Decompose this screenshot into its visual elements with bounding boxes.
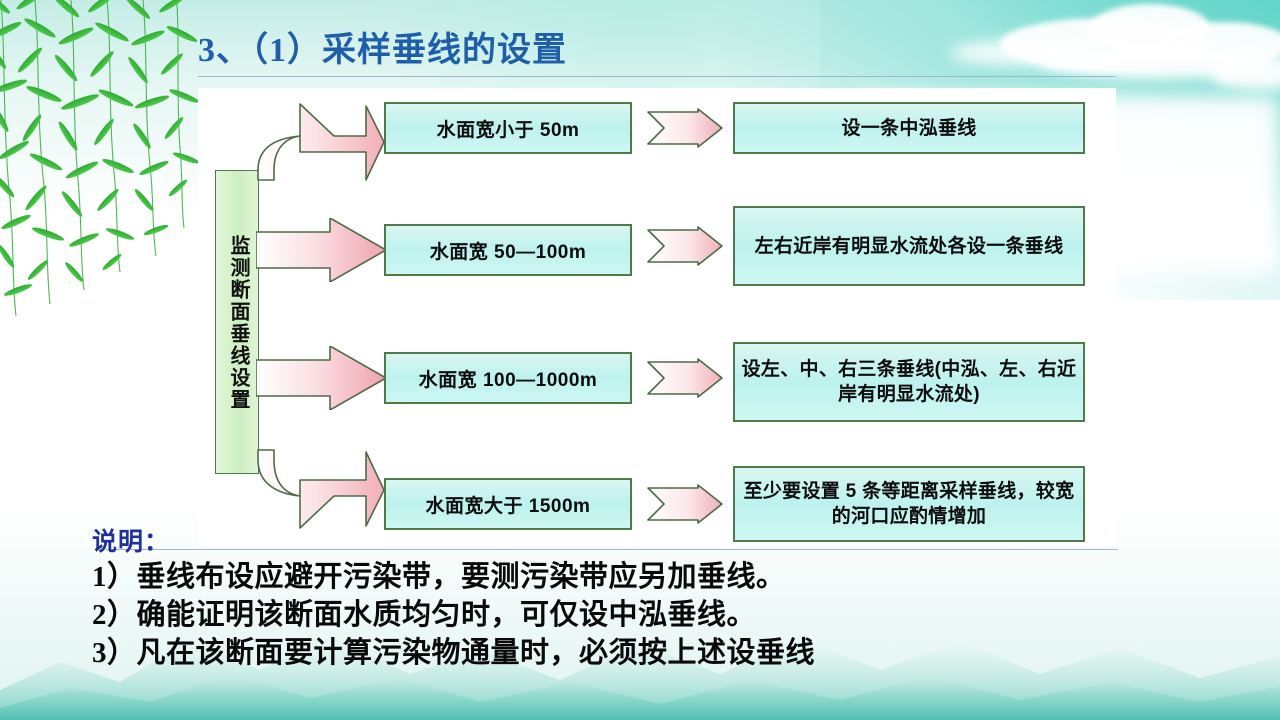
result-label: 左右近岸有明显水流处各设一条垂线 <box>755 234 1064 259</box>
note-item: 2）确能证明该断面水质均匀时，可仅设中泓垂线。 <box>92 596 1192 634</box>
root-node-box[interactable]: 监测断面垂线设置 <box>215 170 259 474</box>
condition-label: 水面宽大于 1500m <box>426 491 591 518</box>
result-label: 设左、中、右三条垂线(中泓、左、右近岸有明显水流处) <box>741 357 1077 407</box>
result-label: 设一条中泓垂线 <box>841 116 976 141</box>
block-arrow-right-icon <box>256 96 388 214</box>
condition-box[interactable]: 水面宽大于 1500m <box>384 478 632 530</box>
chevron-arrow-right-icon <box>646 358 724 398</box>
slide-canvas: 3、（1）采样垂线的设置 监测断面垂线设置 <box>0 0 1280 720</box>
condition-label: 水面宽 50—100m <box>430 237 587 264</box>
notes-heading: 说明： <box>92 528 1192 558</box>
willow-branch-icon <box>0 0 226 330</box>
page-title: 3、（1）采样垂线的设置 <box>198 30 1118 72</box>
block-arrow-right-icon <box>256 218 388 282</box>
result-box[interactable]: 设一条中泓垂线 <box>733 102 1085 154</box>
condition-box[interactable]: 水面宽 100—1000m <box>384 352 632 404</box>
condition-label: 水面宽 100—1000m <box>419 365 598 392</box>
title-divider <box>198 76 1116 77</box>
result-box[interactable]: 左右近岸有明显水流处各设一条垂线 <box>733 206 1085 286</box>
chevron-arrow-right-icon <box>646 484 724 524</box>
notes-block: 说明： 1）垂线布设应避开污染带，要测污染带应另加垂线。 2）确能证明该断面水质… <box>92 528 1192 672</box>
block-arrow-right-icon <box>256 416 388 544</box>
flowchart-diagram: 监测断面垂线设置 <box>198 88 1116 546</box>
chevron-arrow-right-icon <box>646 108 724 148</box>
condition-label: 水面宽小于 50m <box>437 115 580 142</box>
note-item: 1）垂线布设应避开污染带，要测污染带应另加垂线。 <box>92 558 1192 596</box>
chevron-arrow-right-icon <box>646 226 724 266</box>
condition-box[interactable]: 水面宽小于 50m <box>384 102 632 154</box>
condition-box[interactable]: 水面宽 50—100m <box>384 224 632 276</box>
root-node-label: 监测断面垂线设置 <box>216 171 260 475</box>
title-block: 3、（1）采样垂线的设置 <box>198 30 1118 77</box>
note-item: 3）凡在该断面要计算污染物通量时，必须按上述设垂线 <box>92 634 1192 672</box>
result-box[interactable]: 设左、中、右三条垂线(中泓、左、右近岸有明显水流处) <box>733 342 1085 422</box>
block-arrow-right-icon <box>256 346 388 410</box>
result-label: 至少要设置 5 条等距离采样垂线，较宽的河口应酌情增加 <box>741 479 1077 529</box>
